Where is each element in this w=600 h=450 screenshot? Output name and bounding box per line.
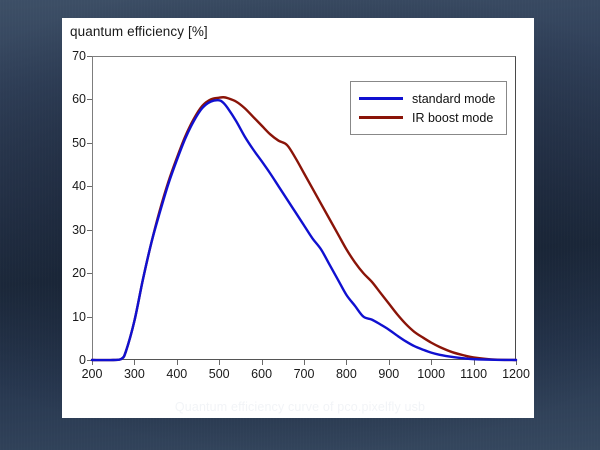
- series-line-standard-mode: [92, 100, 516, 360]
- x-tick-mark: [262, 360, 263, 365]
- legend-item: IR boost mode: [359, 108, 495, 127]
- y-tick-label: 0: [79, 353, 86, 367]
- chart-card: quantum efficiency [%] 010203040506070 2…: [62, 18, 534, 418]
- x-tick-label: 900: [378, 367, 399, 381]
- x-tick-mark: [431, 360, 432, 365]
- x-tick-label: 500: [209, 367, 230, 381]
- x-tick-label: 1200: [502, 367, 530, 381]
- x-tick-mark: [474, 360, 475, 365]
- x-tick-mark: [389, 360, 390, 365]
- x-tick-label: 800: [336, 367, 357, 381]
- y-tick-label: 70: [72, 49, 86, 63]
- x-tick-label: 1000: [417, 367, 445, 381]
- legend-color-swatch: [359, 97, 403, 100]
- x-tick-mark: [177, 360, 178, 365]
- x-tick-label: 600: [251, 367, 272, 381]
- y-tick-label: 60: [72, 92, 86, 106]
- x-tick-mark: [134, 360, 135, 365]
- legend-label: standard mode: [412, 92, 495, 106]
- y-tick-label: 50: [72, 136, 86, 150]
- x-tick-mark: [219, 360, 220, 365]
- x-tick-mark: [304, 360, 305, 365]
- legend-item: standard mode: [359, 89, 495, 108]
- chart-legend: standard modeIR boost mode: [350, 81, 507, 135]
- x-tick-label: 300: [124, 367, 145, 381]
- x-tick-label: 400: [166, 367, 187, 381]
- y-tick-label: 10: [72, 310, 86, 324]
- x-tick-label: 1100: [460, 367, 487, 381]
- slide-background: quantum efficiency [%] 010203040506070 2…: [0, 0, 600, 450]
- y-tick-label: 40: [72, 179, 86, 193]
- chart-axis-title: quantum efficiency [%]: [70, 24, 208, 39]
- x-tick-label: 200: [82, 367, 103, 381]
- y-tick-label: 20: [72, 266, 86, 280]
- legend-label: IR boost mode: [412, 111, 493, 125]
- x-tick-label: 700: [294, 367, 315, 381]
- legend-color-swatch: [359, 116, 403, 119]
- slide-caption: Quantum efficiency curve of pco.pixelfly…: [0, 400, 600, 414]
- x-tick-mark: [346, 360, 347, 365]
- y-tick-label: 30: [72, 223, 86, 237]
